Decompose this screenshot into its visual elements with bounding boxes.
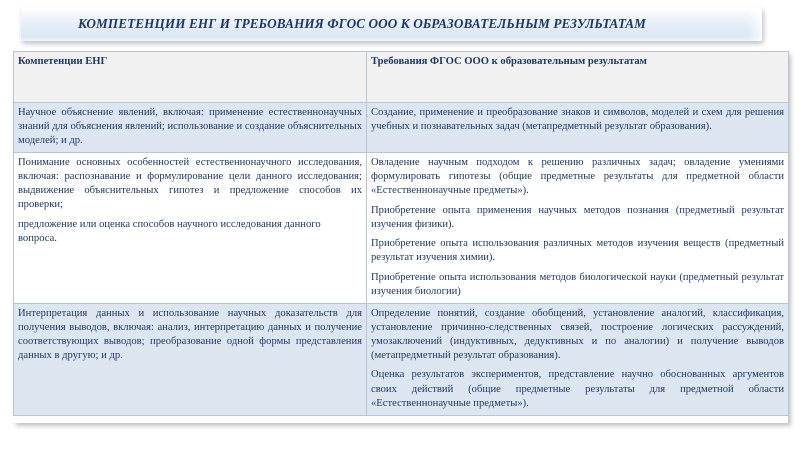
column-header-competencies-label: Компетенции ЕНГ bbox=[18, 55, 362, 69]
cell-competence-3: Интерпретация данных и использование нау… bbox=[14, 303, 367, 415]
table-body: Научное объяснение явлений, включая: при… bbox=[14, 103, 789, 416]
column-header-requirements-label: Требования ФГОС ООО к образовательным ре… bbox=[371, 55, 784, 69]
requirement-1-1-text: Создание, применение и преобразование зн… bbox=[371, 106, 784, 134]
requirement-2-3-text: Приобретение опыта использования различн… bbox=[371, 237, 784, 265]
cell-requirements-2: Овладение научным подходом к решению раз… bbox=[367, 153, 789, 304]
competence-2-text-part1: Понимание основных особенностей естестве… bbox=[18, 156, 362, 212]
requirement-3-1-text: Определение понятий, создание обобщений,… bbox=[371, 307, 784, 363]
cell-requirements-1: Создание, применение и преобразование зн… bbox=[367, 103, 789, 153]
table-row: Научное объяснение явлений, включая: при… bbox=[14, 103, 789, 153]
competence-3-text: Интерпретация данных и использование нау… bbox=[18, 307, 362, 363]
page-title: КОМПЕТЕНЦИИ ЕНГ И ТРЕБОВАНИЯ ФГОС ООО К … bbox=[20, 16, 762, 32]
table-row: Интерпретация данных и использование нау… bbox=[14, 303, 789, 415]
column-header-competencies: Компетенции ЕНГ bbox=[14, 52, 367, 103]
cell-competence-2: Понимание основных особенностей естестве… bbox=[14, 153, 367, 304]
requirement-3-2-text: Оценка результатов экспериментов, предст… bbox=[371, 368, 784, 410]
requirement-2-2-text: Приобретение опыта применения научных ме… bbox=[371, 204, 784, 232]
table-row: Понимание основных особенностей естестве… bbox=[14, 153, 789, 304]
requirement-2-1-text: Овладение научным подходом к решению раз… bbox=[371, 156, 784, 198]
competence-1-text: Научное объяснение явлений, включая: при… bbox=[18, 106, 362, 148]
title-banner: КОМПЕТЕНЦИИ ЕНГ И ТРЕБОВАНИЯ ФГОС ООО К … bbox=[20, 7, 762, 41]
requirement-2-4-text: Приобретение опыта использования методов… bbox=[371, 271, 784, 299]
table-header: Компетенции ЕНГ Требования ФГОС ООО к об… bbox=[14, 52, 789, 103]
cell-competence-1: Научное объяснение явлений, включая: при… bbox=[14, 103, 367, 153]
cell-requirements-3: Определение понятий, создание обобщений,… bbox=[367, 303, 789, 415]
table-header-row: Компетенции ЕНГ Требования ФГОС ООО к об… bbox=[14, 52, 789, 103]
competence-2-text-part2: предложение или оценка способов научного… bbox=[18, 218, 362, 246]
competencies-requirements-table: Компетенции ЕНГ Требования ФГОС ООО к об… bbox=[13, 51, 789, 416]
column-header-requirements: Требования ФГОС ООО к образовательным ре… bbox=[367, 52, 789, 103]
